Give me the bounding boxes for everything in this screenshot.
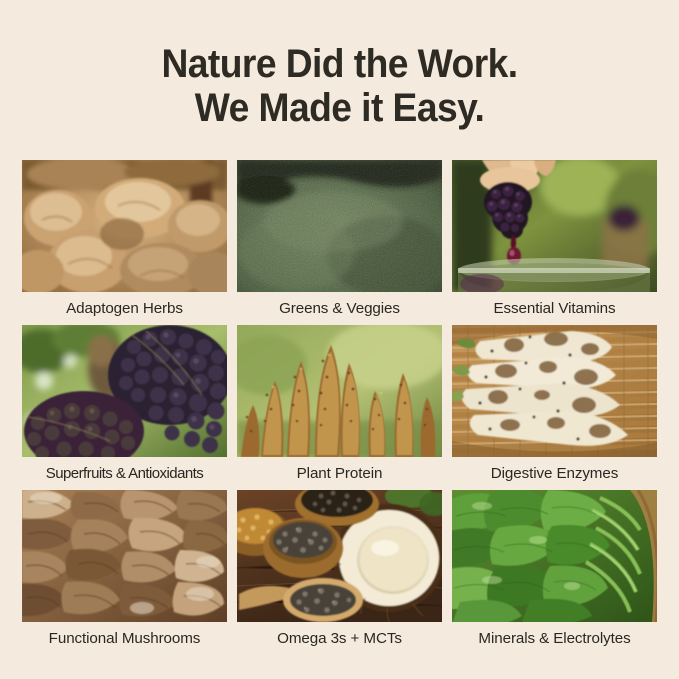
omega-3s-mcts-photo <box>237 490 442 622</box>
grid-item: Omega 3s + MCTs <box>237 490 442 655</box>
grid-item: Adaptogen Herbs <box>22 160 227 325</box>
grid-item-label: Greens & Veggies <box>237 292 442 325</box>
plant-protein-photo <box>237 325 442 457</box>
grid-item: Functional Mushrooms <box>22 490 227 655</box>
product-ingredient-poster: Nature Did the Work. We Made it Easy. <box>0 0 679 679</box>
grid-item: Superfruits & Antioxidants <box>22 325 227 490</box>
headline-line-1: Nature Did the Work. <box>24 42 655 86</box>
headline-line-2: We Made it Easy. <box>24 86 655 130</box>
grid-item-label: Adaptogen Herbs <box>22 292 227 325</box>
grid-item: Minerals & Electrolytes <box>452 490 657 655</box>
grid-item-label: Omega 3s + MCTs <box>237 622 442 655</box>
greens-and-veggies-photo <box>237 160 442 292</box>
essential-vitamins-photo <box>452 160 657 292</box>
grid-item: Greens & Veggies <box>237 160 442 325</box>
ingredient-grid: Adaptogen Herbs <box>22 160 657 655</box>
grid-item-label: Functional Mushrooms <box>22 622 227 655</box>
grid-item-label: Superfruits & Antioxidants <box>22 457 227 490</box>
grid-item-label: Plant Protein <box>237 457 442 490</box>
grid-item: Plant Protein <box>237 325 442 490</box>
functional-mushrooms-photo <box>22 490 227 622</box>
page-title: Nature Did the Work. We Made it Easy. <box>24 42 655 130</box>
grid-item-label: Essential Vitamins <box>452 292 657 325</box>
minerals-electrolytes-photo <box>452 490 657 622</box>
digestive-enzymes-photo <box>452 325 657 457</box>
grid-item: Essential Vitamins <box>452 160 657 325</box>
grid-item-label: Digestive Enzymes <box>452 457 657 490</box>
adaptogen-herbs-photo <box>22 160 227 292</box>
grid-item-label: Minerals & Electrolytes <box>452 622 657 655</box>
grid-item: Digestive Enzymes <box>452 325 657 490</box>
superfruits-antioxidants-photo <box>22 325 227 457</box>
